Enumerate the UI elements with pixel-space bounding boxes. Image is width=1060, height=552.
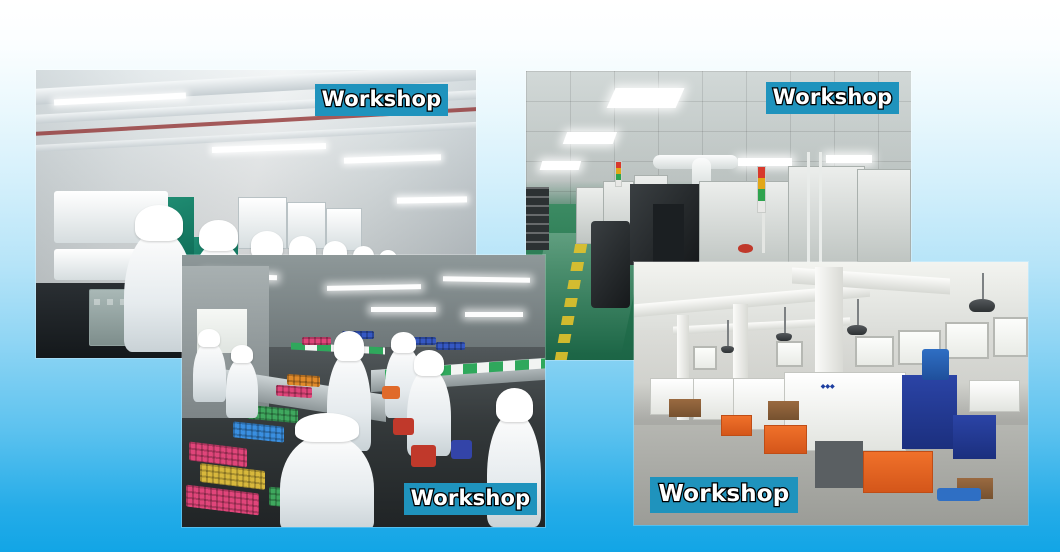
worker: [193, 342, 226, 402]
machine-enclosure: [699, 181, 791, 268]
component-tray: [200, 463, 265, 490]
wall-window: [776, 341, 804, 367]
orange-crate: [764, 425, 807, 454]
ceiling-light: [465, 312, 523, 317]
orange-crate: [721, 415, 753, 436]
orange-crate: [863, 451, 934, 493]
ceiling-light: [540, 161, 581, 170]
signal-tower: [757, 166, 766, 212]
structural-pole: [807, 152, 810, 268]
monitor: [653, 204, 684, 268]
storage-rack: [526, 187, 549, 251]
ceiling-light: [371, 307, 436, 312]
signal-tower: [615, 161, 622, 187]
ceiling-light: [212, 143, 327, 153]
worker-cap: [199, 220, 238, 251]
blue-pallet: [937, 488, 980, 501]
workshop-badge: Workshop: [650, 477, 798, 513]
pendant-lamp: [776, 333, 792, 341]
structural-pole: [819, 152, 822, 268]
stool: [382, 386, 400, 400]
worker: [226, 358, 259, 418]
ceiling-light: [397, 196, 467, 204]
worker-cap: [135, 205, 183, 241]
photo-packing-line[interactable]: Workshop: [182, 255, 545, 527]
machine-enclosure: [857, 169, 911, 261]
hopper-barrel: [922, 349, 950, 381]
gallery-stage: Workshop: [0, 0, 1060, 552]
component-tray: [276, 384, 312, 397]
worker: [407, 369, 451, 456]
workshop-badge-label: Workshop: [411, 488, 531, 509]
ceiling-light: [562, 132, 616, 144]
wood-box: [669, 399, 701, 417]
wall-window: [855, 336, 894, 368]
machine-dark: [591, 221, 630, 308]
emergency-button: [738, 244, 753, 253]
wall-window: [993, 317, 1028, 356]
wood-box: [768, 401, 800, 419]
photo-molding-shop[interactable]: ◆◆◆ Workshop: [634, 262, 1028, 525]
stool: [451, 440, 473, 459]
component-tray: [287, 374, 320, 387]
ceiling-light: [344, 155, 441, 165]
workshop-badge-label: Workshop: [773, 87, 893, 108]
stool: [411, 445, 436, 467]
machine-enclosure: [788, 166, 865, 264]
ceiling-light: [606, 88, 684, 108]
ceiling-light: [738, 158, 792, 167]
component-tray: [436, 342, 465, 350]
molding-machine: [969, 380, 1020, 412]
molding-machine-blue: [902, 375, 957, 449]
workshop-badge: Workshop: [404, 483, 537, 515]
workshop-badge: Workshop: [766, 82, 899, 114]
pendant-lamp: [721, 346, 734, 353]
component-tray: [186, 484, 259, 515]
machine-logo-icon: ◆◆◆: [821, 383, 835, 390]
signal-tower-pole: [762, 213, 765, 253]
component-tray: [233, 421, 284, 443]
workshop-badge: Workshop: [315, 84, 448, 116]
machine-base: [815, 441, 862, 488]
pendant-lamp: [847, 325, 867, 335]
component-tray: [302, 337, 331, 345]
wall-window: [693, 346, 717, 370]
workshop-badge-label: Workshop: [659, 483, 790, 506]
machine-cabinet-blue: [953, 415, 996, 460]
pendant-lamp: [969, 299, 995, 312]
component-tray: [189, 442, 247, 468]
wall-window: [945, 322, 988, 359]
stool: [393, 418, 415, 434]
ceiling-light: [826, 155, 872, 164]
workshop-badge-label: Workshop: [322, 89, 442, 110]
